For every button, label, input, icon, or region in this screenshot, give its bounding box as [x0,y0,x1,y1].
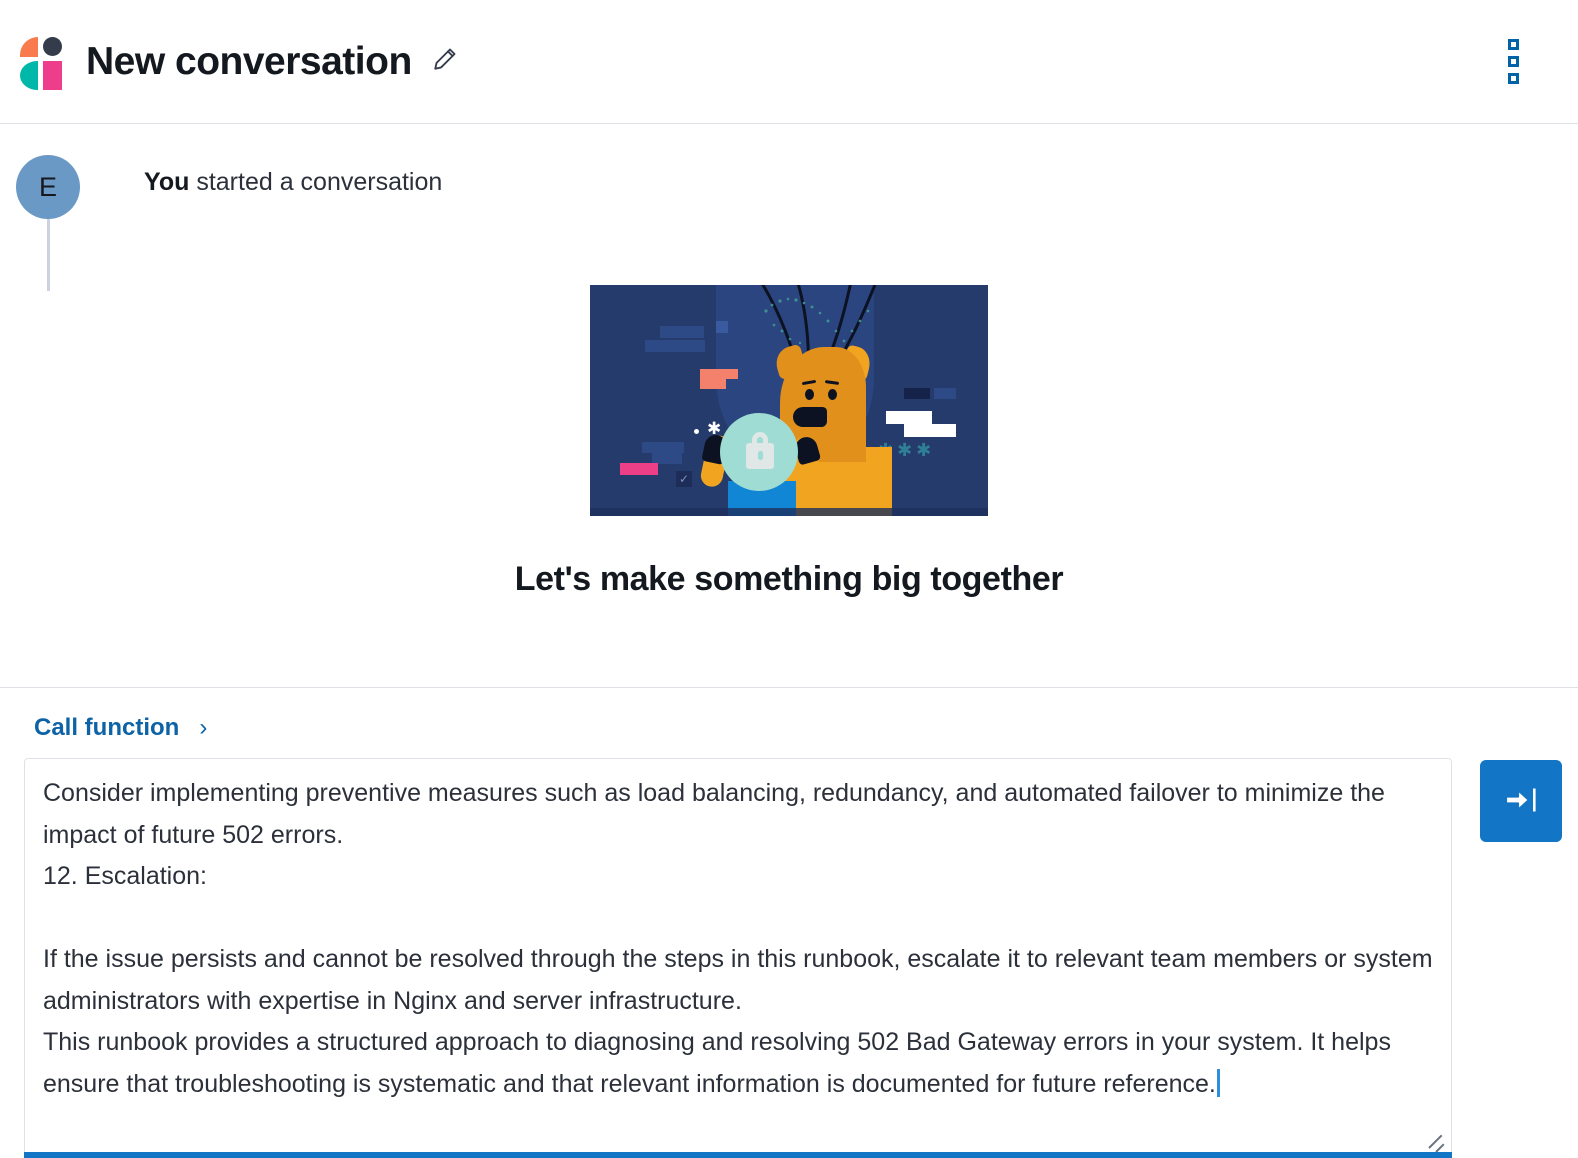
conversation-body[interactable]: E You started a conversation [0,124,1578,688]
vertical-dots-icon-dot-3 [1508,73,1519,84]
illustration-block-11 [886,411,932,424]
illustration-checkbox-icon: ✓ [676,471,692,487]
deer-fortune-teller-illustration-icon: ✓ ✱✱✱ [590,285,988,516]
logo-dark-circle-icon [43,37,62,56]
illustration-block-6 [642,442,684,453]
illustration-deer-eye-left [805,389,814,400]
illustration-block-2 [645,340,705,352]
vertical-dots-icon-dot-1 [1508,39,1519,50]
call-function-label: Call function [34,714,179,742]
logo-pink-rect-icon [43,61,62,90]
illustration-sparkle-icon: ✱ [707,419,721,439]
message-composer: Call function › Consider implementing pr… [0,688,1578,1158]
app-logo-icon [20,33,62,91]
empty-state-title: Let's make something big together [515,560,1063,599]
event-actor: You [144,168,189,196]
illustration-block-9 [904,388,930,399]
pencil-icon [432,46,458,77]
vertical-dots-icon-dot-2 [1508,56,1519,67]
send-button[interactable] [1480,760,1562,842]
empty-state: ✓ ✱✱✱ [0,285,1578,599]
conversation-app: New conversation E You started a convers… [0,0,1578,1158]
thread-connector-line [47,219,50,291]
illustration-block-10 [934,388,956,399]
illustration-block-12 [904,424,956,437]
logo-orange-quarter-icon [20,37,38,57]
illustration-deer-snout [793,407,827,427]
illustration-block-1 [660,326,704,338]
illustration-sparkle-dot [694,429,699,434]
edit-title-button[interactable] [430,47,460,77]
illustration-lock-icon-keyhole [758,451,763,460]
conversation-event: E You started a conversation [0,124,1578,219]
message-input-text: Consider implementing preventive measure… [43,779,1440,1098]
chevron-right-icon: › [199,716,207,740]
event-description: You started a conversation [144,168,442,197]
text-cursor [1217,1069,1220,1097]
avatar[interactable]: E [16,155,80,219]
input-focus-indicator [24,1152,1452,1158]
page-title: New conversation [86,40,412,84]
illustration-deer-eye-right [828,389,837,400]
event-action: started a conversation [189,168,442,196]
message-input[interactable]: Consider implementing preventive measure… [24,758,1452,1158]
illustration-block-8 [620,463,658,475]
composer-row: Consider implementing preventive measure… [24,758,1554,1158]
logo-teal-half-icon [20,61,38,90]
more-options-button[interactable] [1496,34,1530,90]
app-header: New conversation [0,0,1578,124]
illustration-ground-shadow [590,508,988,516]
arrow-to-bar-icon [1504,787,1538,816]
textarea-resize-handle[interactable] [1430,1136,1447,1153]
call-function-button[interactable]: Call function › [34,714,207,742]
message-input-wrapper: Consider implementing preventive measure… [24,758,1452,1158]
